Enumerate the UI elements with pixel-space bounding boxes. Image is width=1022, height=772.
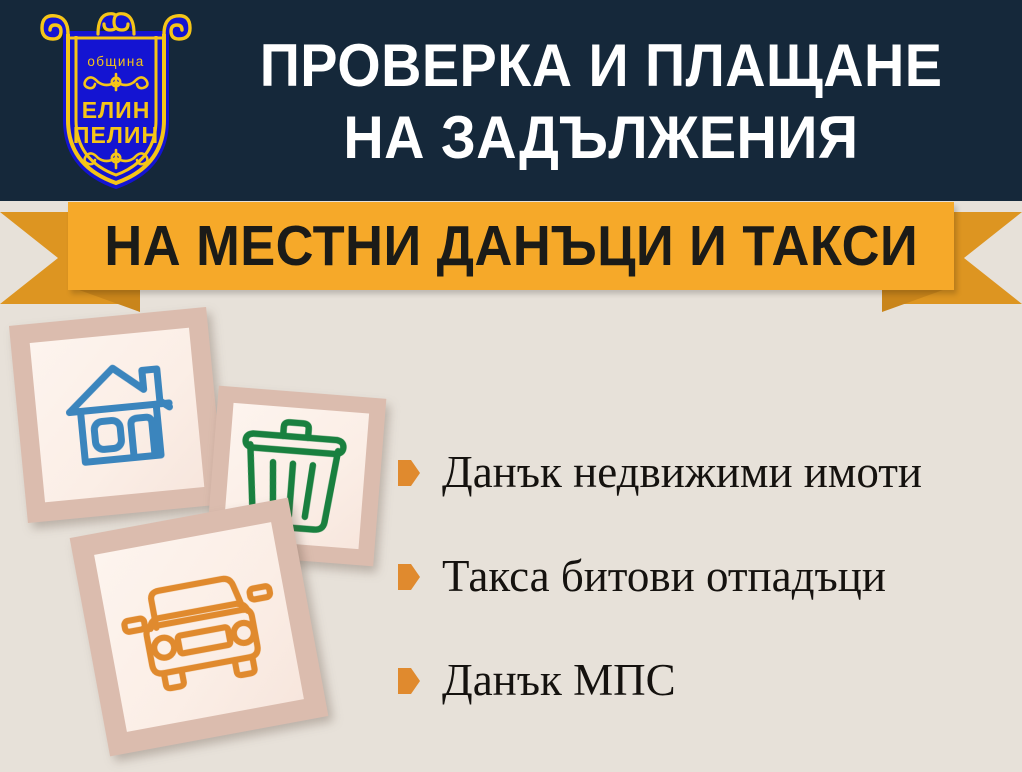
page-title-line-2: НА ЗАДЪЛЖЕНИЯ <box>343 102 858 174</box>
logo-name-line-2: ПЕЛИН <box>73 122 159 148</box>
list-item[interactable]: Данък недвижими имоти <box>398 420 1016 524</box>
list-item-label: Данък МПС <box>442 654 676 706</box>
coat-of-arms-icon: община ЕЛИН ПЕЛИН <box>36 8 196 194</box>
list-item-label: Такса битови отпадъци <box>442 550 886 602</box>
subtitle-ribbon: НА МЕСТНИ ДАНЪЦИ И ТАКСИ <box>0 198 1022 310</box>
stamp-card-car <box>70 498 329 757</box>
list-item[interactable]: Такса битови отпадъци <box>398 524 1016 628</box>
municipality-logo: община ЕЛИН ПЕЛИН <box>36 8 196 194</box>
ribbon-banner: НА МЕСТНИ ДАНЪЦИ И ТАКСИ <box>68 202 954 290</box>
logo-community-word: община <box>87 54 144 69</box>
page-title: ПРОВЕРКА И ПЛАЩАНЕ НА ЗАДЪЛЖЕНИЯ <box>186 14 1016 190</box>
house-icon <box>9 307 225 523</box>
poster-canvas: община ЕЛИН ПЕЛИН ПРОВЕРКА <box>0 0 1022 772</box>
arrow-bullet-icon <box>398 460 420 486</box>
arrow-bullet-icon <box>398 564 420 590</box>
list-item-label: Данък недвижими имоти <box>442 446 922 498</box>
logo-name-line-1: ЕЛИН <box>82 97 151 123</box>
ribbon-label: НА МЕСТНИ ДАНЪЦИ И ТАКСИ <box>104 217 918 275</box>
tax-type-list: Данък недвижими имоти Такса битови отпад… <box>398 420 1016 732</box>
car-front-icon <box>70 498 329 757</box>
arrow-bullet-icon <box>398 668 420 694</box>
list-item[interactable]: Данък МПС <box>398 628 1016 732</box>
page-title-line-1: ПРОВЕРКА И ПЛАЩАНЕ <box>260 30 943 102</box>
stamp-group <box>0 300 420 772</box>
stamp-card-house <box>9 307 225 523</box>
